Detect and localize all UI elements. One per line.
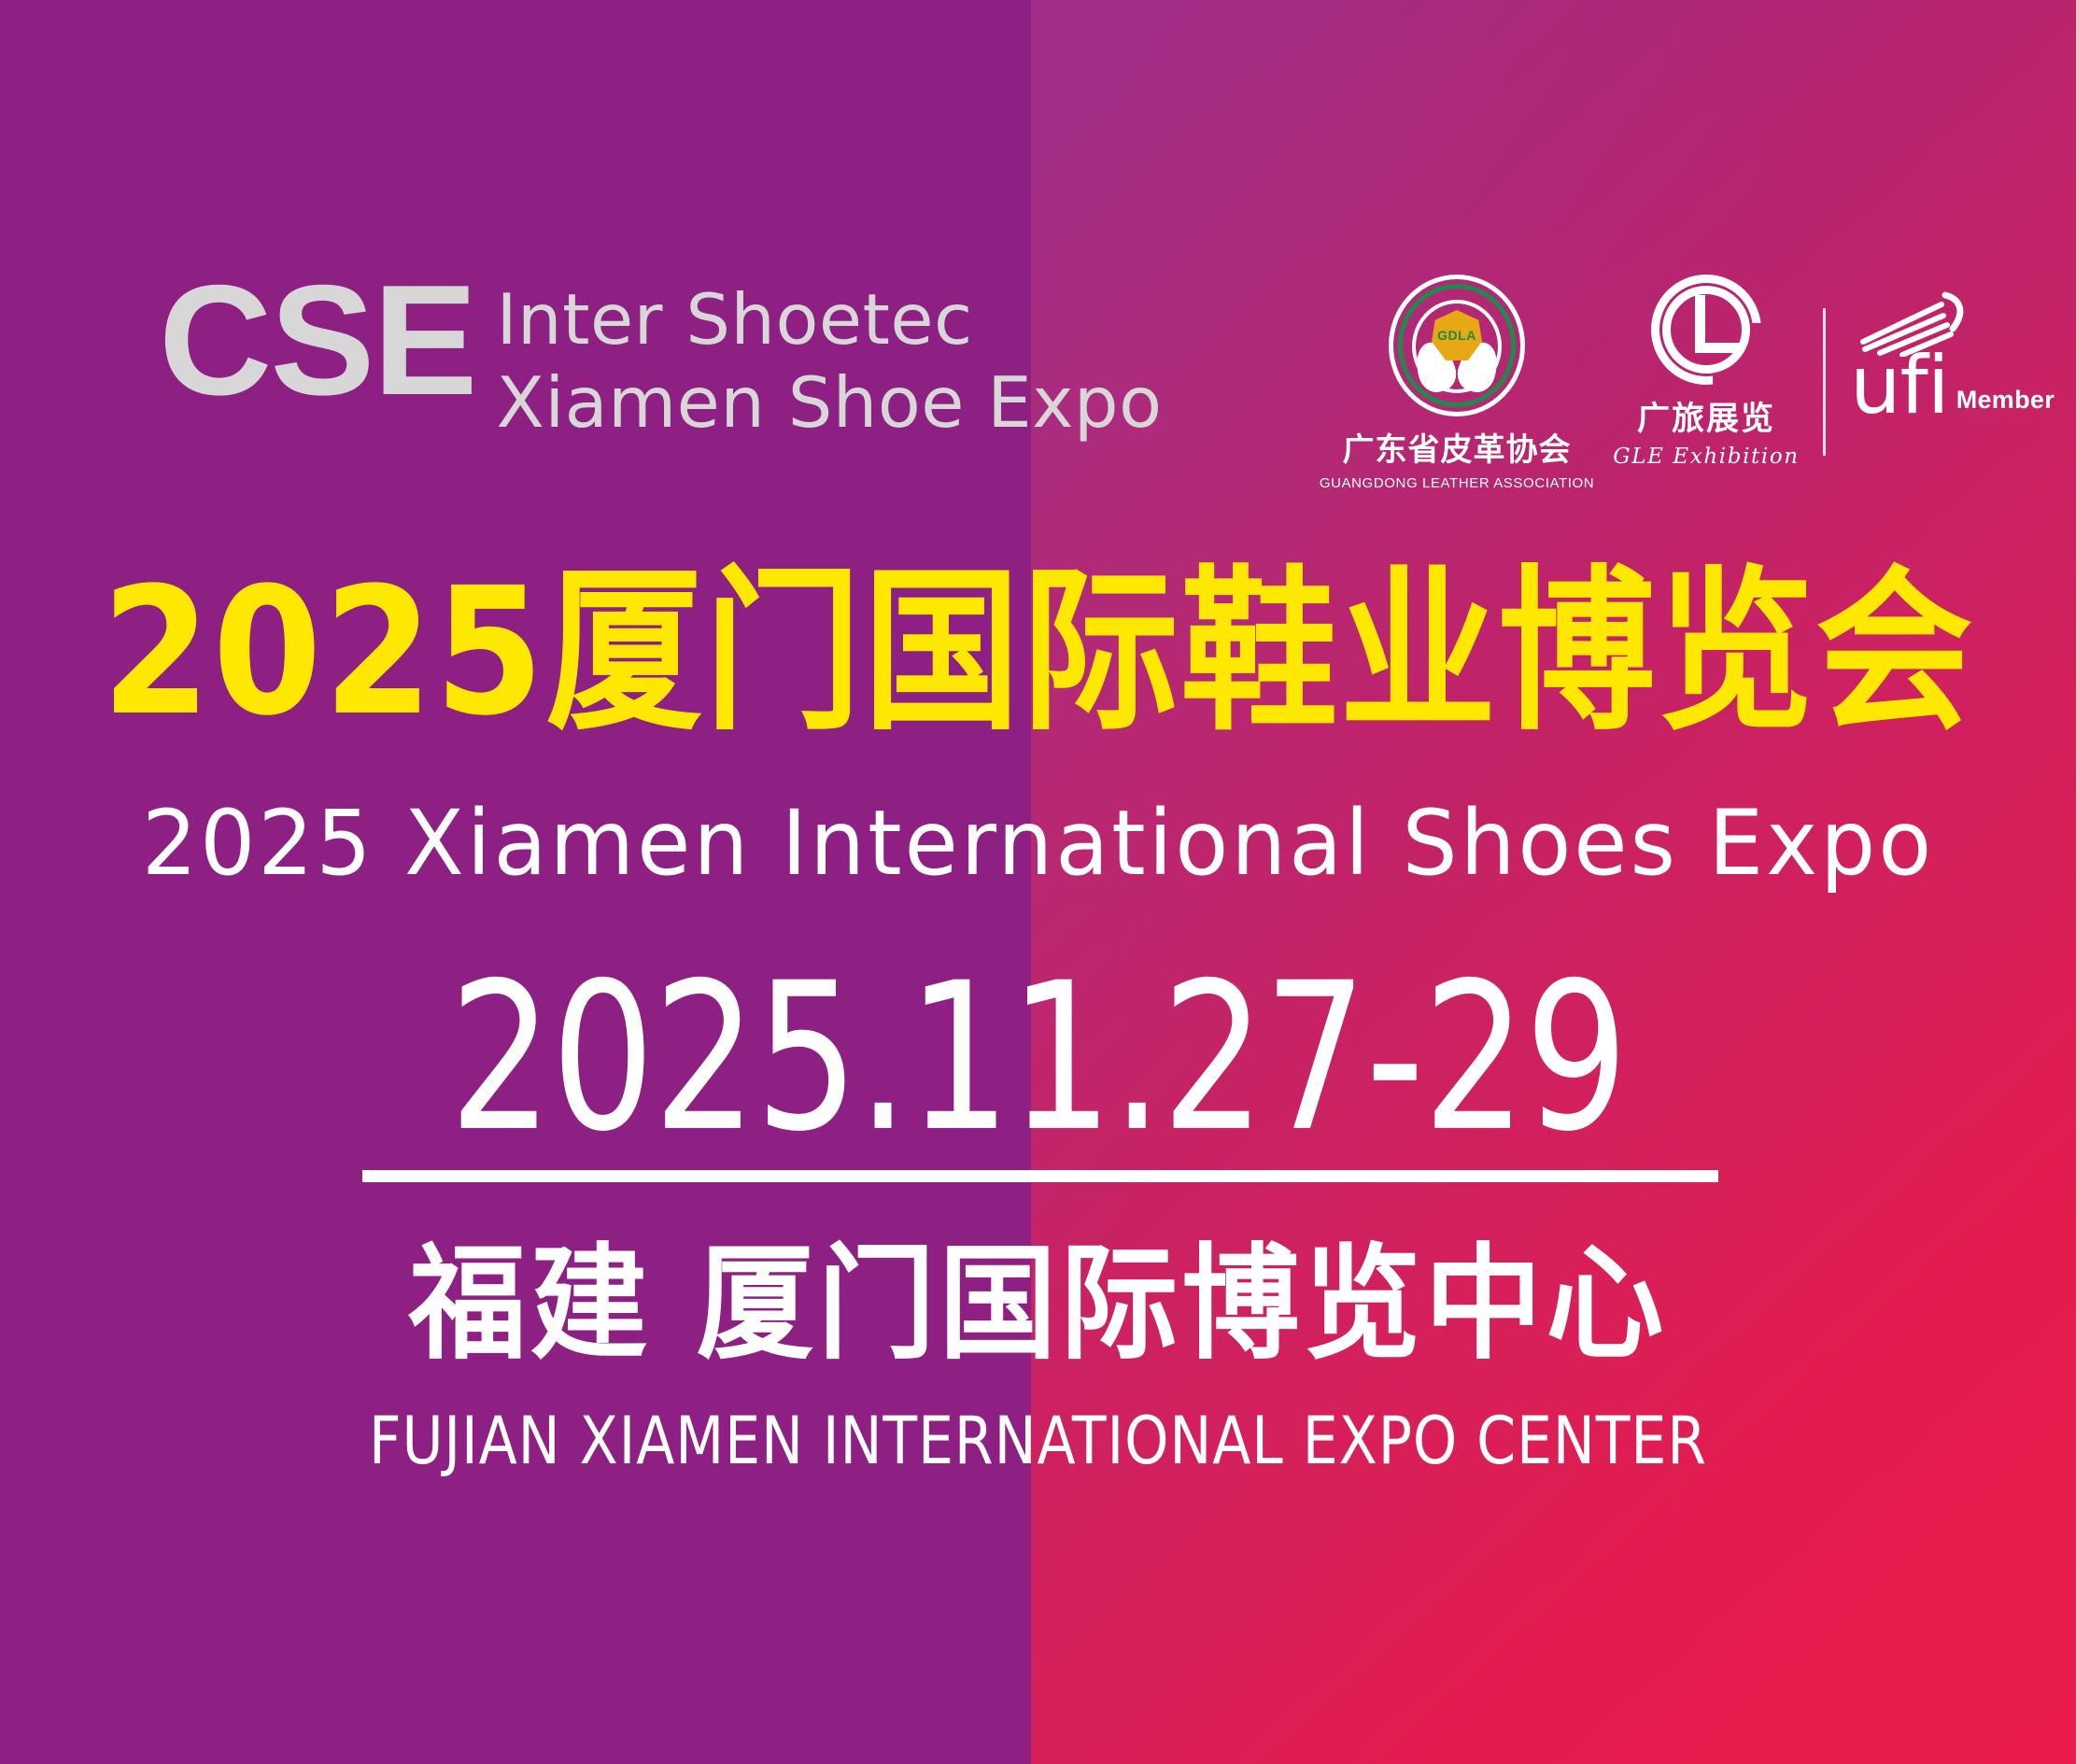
venue-name-english: FUJIAN XIAMEN INTERNATIONAL EXPO CENTER bbox=[146, 1408, 1931, 1474]
cse-logo-mark: CSE bbox=[159, 267, 475, 415]
ufi-member-label: Member bbox=[1956, 386, 2055, 415]
event-title-english: 2025 Xiamen International Shoes Expo bbox=[31, 798, 2044, 888]
gle-monogram-icon bbox=[1651, 275, 1761, 385]
partner-divider bbox=[1823, 308, 1826, 456]
expo-promo-banner: CSE Inter Shoetec Xiamen Shoe Expo bbox=[0, 0, 2076, 1764]
ufi-wordmark-row: ufi Member bbox=[1850, 351, 2055, 422]
venue-name-chinese: 福建 厦门国际博览中心 bbox=[0, 1242, 2076, 1367]
gdla-hexagon-label: GDLA bbox=[1437, 328, 1476, 343]
banner-content: CSE Inter Shoetec Xiamen Shoe Expo bbox=[0, 0, 2076, 1764]
partner-logos: GDLA 广东省皮革协会 GUANGDONG LEATHER ASSOCIATI… bbox=[1350, 275, 2037, 491]
gle-ufi-group: 广旅展览 GLE Exhibition bbox=[1599, 275, 2037, 469]
gle-logo: 广旅展览 GLE Exhibition bbox=[1599, 275, 1814, 469]
ufi-logo: ufi Member bbox=[1835, 275, 2037, 422]
event-date: 2025.11.27-29 bbox=[177, 956, 1899, 1160]
ufi-swoosh-icon bbox=[1856, 291, 1975, 357]
gdla-name-cn: 广东省皮革协会 bbox=[1343, 424, 1572, 470]
gdla-emblem-icon: GDLA bbox=[1389, 275, 1525, 416]
event-title-chinese: 2025厦门国际鞋业博览会 bbox=[0, 564, 2076, 740]
gdla-logo: GDLA 广东省皮革协会 GUANGDONG LEATHER ASSOCIATI… bbox=[1350, 275, 1563, 491]
cse-wordmark-line-2: Xiamen Shoe Expo bbox=[496, 361, 1162, 445]
banner-header: CSE Inter Shoetec Xiamen Shoe Expo bbox=[0, 267, 2076, 463]
gle-l-foot bbox=[1695, 343, 1740, 353]
horizontal-divider-rule bbox=[362, 1170, 1718, 1182]
ufi-wordmark: ufi bbox=[1850, 351, 1949, 422]
gdla-name-en: GUANGDONG LEATHER ASSOCIATION bbox=[1320, 475, 1594, 491]
gle-name-cn: 广旅展览 bbox=[1637, 392, 1775, 440]
cse-wordmark-line-1: Inter Shoetec bbox=[496, 278, 1162, 361]
cse-brand-lockup: CSE Inter Shoetec Xiamen Shoe Expo bbox=[159, 267, 1162, 444]
cse-logo-wordmark: Inter Shoetec Xiamen Shoe Expo bbox=[496, 267, 1162, 444]
gle-g-inner-ring bbox=[1662, 286, 1750, 374]
gle-name-en: GLE Exhibition bbox=[1613, 445, 1799, 469]
